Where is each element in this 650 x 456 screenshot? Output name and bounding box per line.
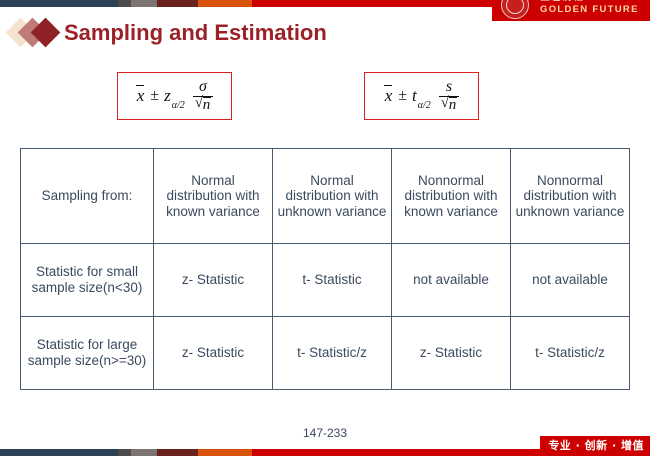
- sampling-statistic-table: Sampling from: Normal distribution with …: [20, 148, 630, 390]
- cell-small-normal-known: z- Statistic: [154, 244, 273, 317]
- row-label-large-sample: Statistic for large sample size(n>=30): [21, 317, 154, 390]
- x-bar-symbol: x: [384, 86, 394, 106]
- statistic-symbol: t: [412, 86, 417, 106]
- company-seal-icon: [501, 0, 529, 19]
- table-corner-label: Sampling from:: [21, 149, 154, 244]
- plus-minus-symbol: ±: [398, 87, 407, 105]
- table-header-nonnormal-known: Nonnormal distribution with known varian…: [392, 149, 511, 244]
- logo-banner: 金色前程 GOLDEN FUTURE: [492, 0, 650, 21]
- company-seal-inner-ring: [506, 0, 524, 14]
- logo-english-name: GOLDEN FUTURE: [540, 4, 639, 15]
- cell-small-nonnormal-known: not available: [392, 244, 511, 317]
- color-segment-gray: [131, 0, 157, 7]
- table-row: Statistic for small sample size(n<30) z-…: [21, 244, 630, 317]
- footer-slogan-wrap: 专业 · 创新 · 增值: [540, 436, 650, 456]
- table-header-row: Sampling from: Normal distribution with …: [21, 149, 630, 244]
- diamond-bullet-icon: [8, 16, 66, 50]
- fraction: s n: [439, 79, 460, 113]
- fraction-numerator: σ: [196, 79, 210, 96]
- plus-minus-symbol: ±: [150, 87, 159, 105]
- formula-expression: x ± z α/2 σ n: [136, 79, 213, 113]
- color-segment-navy: [0, 0, 118, 7]
- color-segment-maroon: [157, 449, 198, 456]
- sqrt-n: n: [196, 97, 211, 113]
- cell-large-nonnormal-known: z- Statistic: [392, 317, 511, 390]
- table-header-normal-unknown: Normal distribution with unknown varianc…: [273, 149, 392, 244]
- fraction-denominator: n: [193, 97, 214, 113]
- row-label-small-sample: Statistic for small sample size(n<30): [21, 244, 154, 317]
- color-segment-gray: [131, 449, 157, 456]
- statistic-subscript: α/2: [172, 100, 185, 113]
- cell-large-nonnormal-unknown: t- Statistic/z: [511, 317, 630, 390]
- color-segment-dark-gray: [118, 0, 131, 7]
- color-segment-maroon: [157, 0, 198, 7]
- logo-chinese-name: 金色前程: [540, 0, 584, 3]
- table-header-nonnormal-unknown: Nonnormal distribution with unknown vari…: [511, 149, 630, 244]
- footer-slogan: 专业 · 创新 · 增值: [540, 436, 650, 456]
- page-title: Sampling and Estimation: [64, 20, 327, 46]
- formula-unknown-variance: x ± t α/2 s n: [364, 72, 479, 120]
- color-segment-navy: [0, 449, 118, 456]
- cell-small-nonnormal-unknown: not available: [511, 244, 630, 317]
- x-bar-symbol: x: [136, 86, 146, 106]
- fraction-denominator: n: [439, 97, 460, 113]
- fraction: σ n: [193, 79, 214, 113]
- fraction-numerator: s: [443, 79, 455, 96]
- color-segment-dark-gray: [118, 449, 131, 456]
- cell-large-normal-known: z- Statistic: [154, 317, 273, 390]
- table-row: Statistic for large sample size(n>=30) z…: [21, 317, 630, 390]
- table-header-normal-known: Normal distribution with known variance: [154, 149, 273, 244]
- statistic-symbol: z: [164, 86, 171, 106]
- color-segment-orange: [198, 0, 252, 7]
- title-row: Sampling and Estimation: [8, 13, 327, 53]
- color-segment-orange: [198, 449, 252, 456]
- cell-large-normal-unknown: t- Statistic/z: [273, 317, 392, 390]
- statistic-subscript: α/2: [418, 100, 431, 113]
- cell-small-normal-unknown: t- Statistic: [273, 244, 392, 317]
- formula-expression: x ± t α/2 s n: [384, 79, 460, 113]
- sqrt-n: n: [442, 97, 457, 113]
- formula-known-variance: x ± z α/2 σ n: [117, 72, 232, 120]
